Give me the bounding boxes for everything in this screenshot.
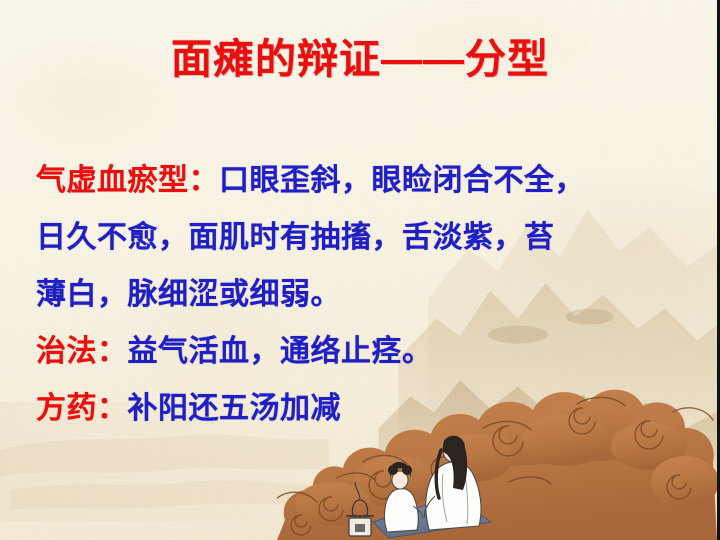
line-4-text: 益气活血，通络止痉。 bbox=[128, 335, 433, 368]
body-line-2: 日久不愈，面肌时有抽搐，舌淡紫，苔 bbox=[36, 209, 636, 266]
line-1-text: 口眼歪斜，眼睑闭合不全， bbox=[219, 164, 585, 197]
line-5-label: 方药： bbox=[36, 392, 128, 425]
body-line-1: 气虚血瘀型：口眼歪斜，眼睑闭合不全， bbox=[36, 152, 636, 209]
line-5-text: 补阳还五汤加减 bbox=[128, 392, 342, 425]
line-2-text: 日久不愈，面肌时有抽搐，舌淡紫，苔 bbox=[36, 221, 555, 254]
line-1-label: 气虚血瘀型： bbox=[36, 164, 219, 197]
page-title: 面瘫的辩证——分型 bbox=[0, 36, 720, 83]
presentation-slide: 面瘫的辩证——分型 气虚血瘀型：口眼歪斜，眼睑闭合不全， 日久不愈，面肌时有抽搐… bbox=[0, 0, 720, 540]
line-4-label: 治法： bbox=[36, 335, 128, 368]
slide-body: 气虚血瘀型：口眼歪斜，眼睑闭合不全， 日久不愈，面肌时有抽搐，舌淡紫，苔 薄白，… bbox=[36, 152, 636, 437]
body-line-3: 薄白，脉细涩或细弱。 bbox=[36, 266, 636, 323]
body-line-5: 方药：补阳还五汤加减 bbox=[36, 380, 636, 437]
body-line-4: 治法：益气活血，通络止痉。 bbox=[36, 323, 636, 380]
line-3-text: 薄白，脉细涩或细弱。 bbox=[36, 278, 341, 311]
